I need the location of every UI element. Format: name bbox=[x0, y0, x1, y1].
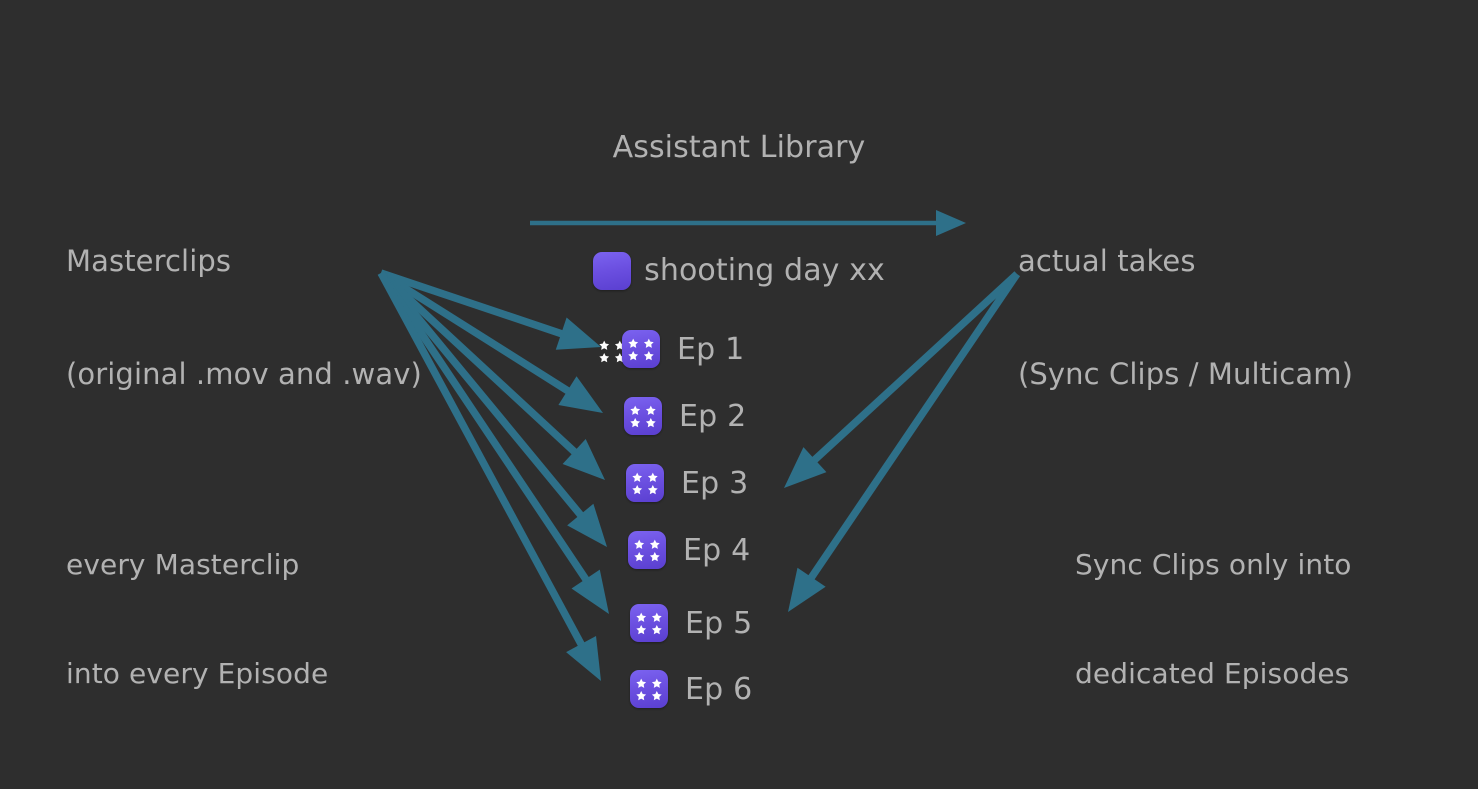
keyword-collection-icon bbox=[624, 397, 662, 435]
keyword-collection-icon bbox=[628, 531, 666, 569]
masterclips-label-line1: Masterclips bbox=[66, 243, 422, 281]
episode-row-5[interactable]: Ep 5 bbox=[630, 604, 752, 642]
library-title: Assistant Library bbox=[0, 128, 1478, 168]
episode-row-6[interactable]: Ep 6 bbox=[630, 670, 752, 708]
note-sync-clips: Sync Clips only into dedicated Episodes bbox=[1075, 474, 1352, 765]
actual-takes-label-line1: actual takes bbox=[1018, 243, 1353, 281]
actual-takes-label-line2: (Sync Clips / Multicam) bbox=[1018, 356, 1353, 394]
keyword-collection-icon bbox=[630, 670, 668, 708]
actual-takes-label: actual takes (Sync Clips / Multicam) bbox=[1018, 168, 1353, 470]
episode-row-3[interactable]: Ep 3 bbox=[626, 464, 748, 502]
masterclips-label: Masterclips (original .mov and .wav) bbox=[66, 168, 422, 470]
episode-label: Ep 5 bbox=[685, 606, 752, 641]
diagram-canvas: Assistant Library shooting day xx Master… bbox=[0, 0, 1478, 789]
episode-row-2[interactable]: Ep 2 bbox=[624, 397, 746, 435]
episode-label: Ep 2 bbox=[679, 399, 746, 434]
episode-row-1[interactable]: Ep 1 bbox=[622, 330, 744, 368]
note-left-line2: into every Episode bbox=[66, 656, 328, 692]
keyword-collection-icon bbox=[630, 604, 668, 642]
note-right-line1: Sync Clips only into bbox=[1075, 547, 1352, 583]
episode-label: Ep 1 bbox=[677, 332, 744, 367]
episode-label: Ep 6 bbox=[685, 672, 752, 707]
episode-label: Ep 4 bbox=[683, 533, 750, 568]
note-right-line2: dedicated Episodes bbox=[1075, 656, 1352, 692]
episode-label: Ep 3 bbox=[681, 466, 748, 501]
keyword-collection-icon bbox=[622, 330, 660, 368]
keyword-collection-icon bbox=[626, 464, 664, 502]
note-every-masterclip: every Masterclip into every Episode bbox=[66, 474, 328, 765]
masterclips-label-line2: (original .mov and .wav) bbox=[66, 356, 422, 394]
keyword-collection-icon bbox=[593, 252, 631, 290]
note-left-line1: every Masterclip bbox=[66, 547, 328, 583]
episode-row-4[interactable]: Ep 4 bbox=[628, 531, 750, 569]
shooting-day-label: shooting day xx bbox=[644, 251, 885, 291]
